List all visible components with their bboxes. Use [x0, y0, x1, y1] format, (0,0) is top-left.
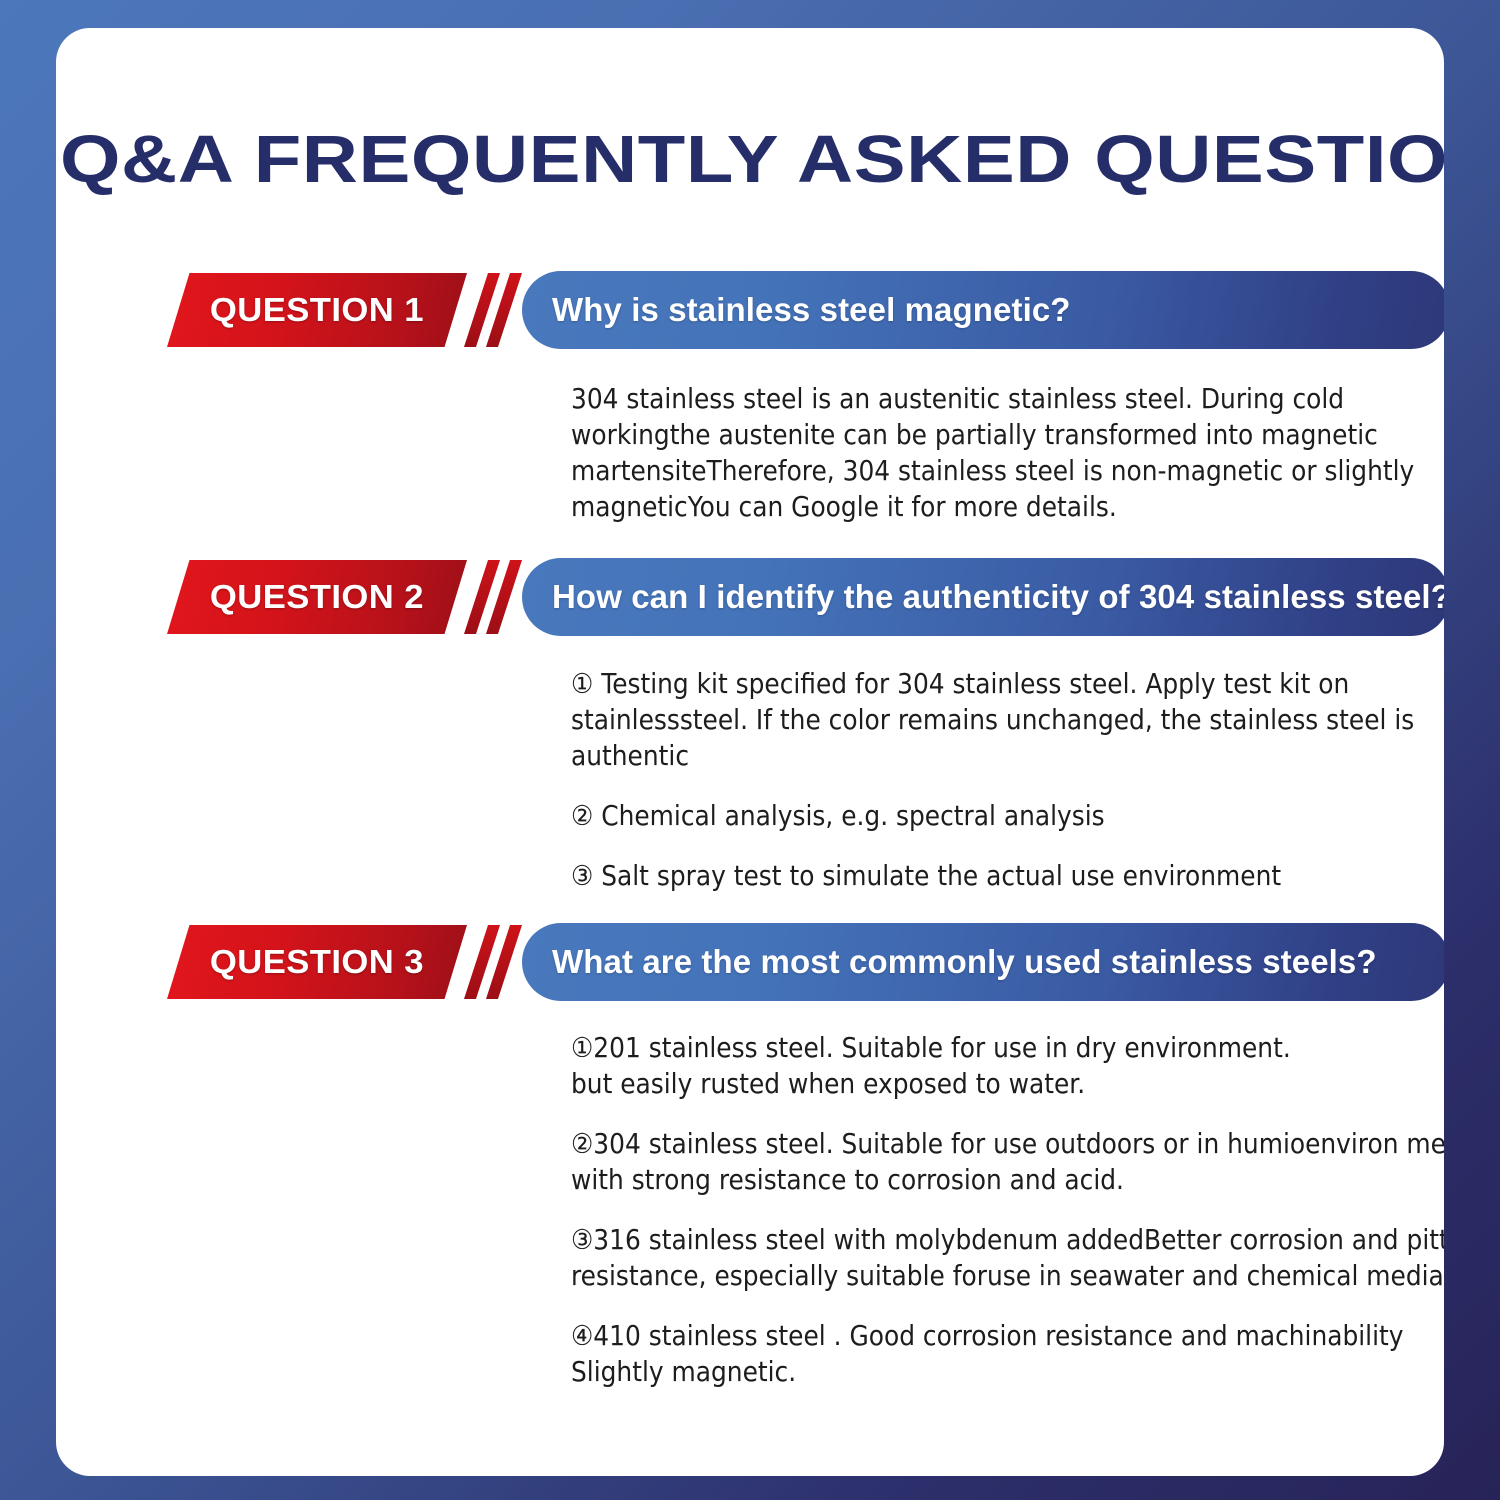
question-text-2: How can I identify the authenticity of 3…: [552, 578, 1444, 616]
question-pill-1: Why is stainless steel magnetic?: [522, 271, 1444, 349]
question-badge-2: QUESTION 2: [167, 560, 467, 634]
question-pill-3: What are the most commonly used stainles…: [522, 923, 1444, 1001]
question-badge-label-1: QUESTION 1: [210, 291, 424, 329]
answer-paragraph: ③316 stainless steel with molybdenum add…: [571, 1222, 1444, 1294]
answer-paragraph: ②304 stainless steel. Suitable for use o…: [571, 1126, 1444, 1198]
question-badge-1: QUESTION 1: [167, 273, 467, 347]
faq-card: Q&A FREQUENTLY ASKED QUESTIONS QUESTION …: [56, 28, 1444, 1476]
answer-paragraph: ② Chemical analysis, e.g. spectral analy…: [571, 798, 1444, 834]
question-badge-3: QUESTION 3: [167, 925, 467, 999]
answer-paragraph: ③ Salt spray test to simulate the actual…: [571, 858, 1444, 894]
faq-header-2: QUESTION 2 How can I identify the authen…: [112, 558, 1444, 636]
question-text-1: Why is stainless steel magnetic?: [552, 291, 1071, 329]
faq-header-3: QUESTION 3 What are the most commonly us…: [112, 923, 1444, 1001]
answer-block-3: ①201 stainless steel. Suitable for use i…: [571, 1030, 1444, 1390]
faq-header-1: QUESTION 1 Why is stainless steel magnet…: [112, 271, 1444, 349]
question-text-3: What are the most commonly used stainles…: [552, 943, 1377, 981]
answer-block-1: 304 stainless steel is an austenitic sta…: [571, 381, 1444, 525]
question-pill-2: How can I identify the authenticity of 3…: [522, 558, 1444, 636]
answer-paragraph: ① Testing kit specified for 304 stainles…: [571, 666, 1444, 774]
question-badge-label-3: QUESTION 3: [210, 943, 424, 981]
question-badge-label-2: QUESTION 2: [210, 578, 424, 616]
answer-paragraph: 304 stainless steel is an austenitic sta…: [571, 381, 1444, 525]
answer-paragraph: ①201 stainless steel. Suitable for use i…: [571, 1030, 1444, 1102]
answer-block-2: ① Testing kit specified for 304 stainles…: [571, 666, 1444, 894]
page-title: Q&A FREQUENTLY ASKED QUESTIONS: [60, 126, 1444, 193]
answer-paragraph: ④410 stainless steel . Good corrosion re…: [571, 1318, 1444, 1390]
